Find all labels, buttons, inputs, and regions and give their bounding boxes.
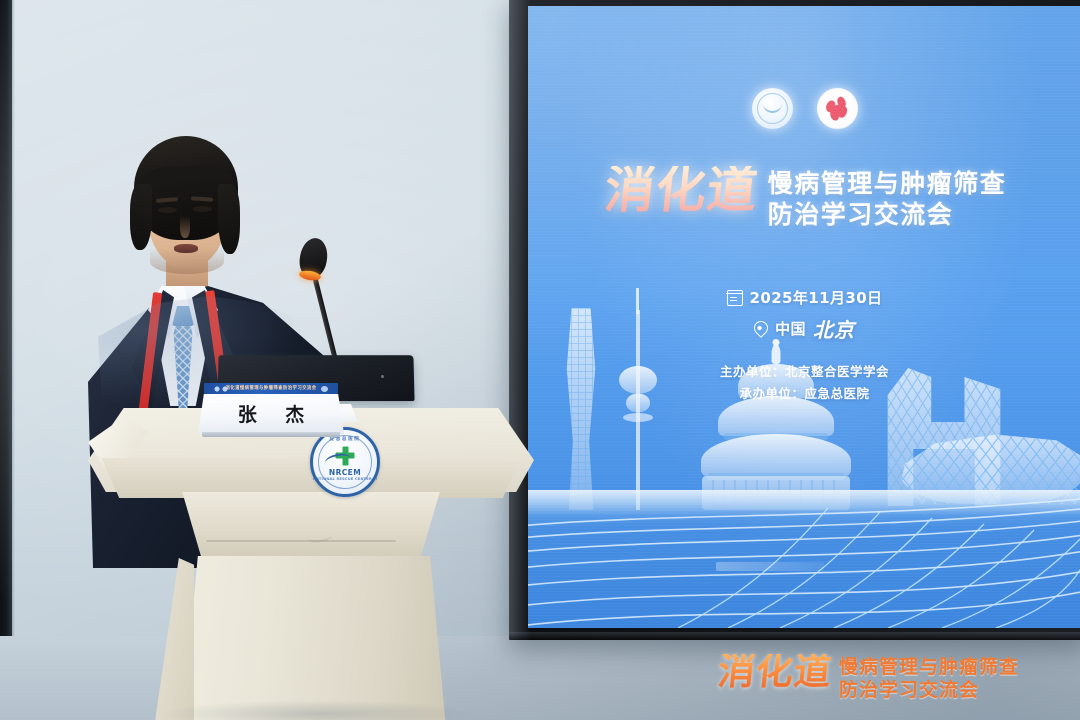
presentation-display: 消化道 慢病管理与肿瘤筛查 防治学习交流会 2025年11月30日 中国 北京 (509, 0, 1080, 640)
slide-ground-curves (528, 490, 1080, 628)
ground-curve-lines (528, 490, 1080, 628)
red-mark-glyph (824, 95, 851, 122)
nameplate-header-strip: 消化道慢病管理与肿瘤筛查防治学习交流会 (204, 383, 338, 394)
banner-line2: 防治学习交流会 (839, 679, 1019, 702)
wall-banner: 消化道 慢病管理与肿瘤筛查 防治学习交流会 (718, 654, 1070, 702)
ground-accent-bar (716, 562, 824, 571)
slide-title-line1: 慢病管理与肿瘤筛查 (768, 169, 1007, 200)
display-bottom-edge (509, 632, 1080, 640)
beijing-skyline-illustration (528, 290, 1080, 510)
podium-column (182, 556, 446, 720)
slide-title-line2: 防治学习交流会 (768, 200, 1007, 231)
podium-mid-section (150, 492, 472, 558)
speaker-eye-right (193, 206, 212, 212)
nameplate-strip-logos (214, 386, 230, 392)
speaker-eye-left (158, 207, 177, 213)
banner-title-main: 消化道 (716, 654, 834, 690)
emblem-acronym: NRCEM (313, 468, 377, 477)
speaker-mouth (174, 244, 198, 253)
laptop-logo-dot (381, 375, 384, 378)
slide-logo-row (528, 88, 1080, 129)
banner-line1: 慢病管理与肿瘤筛查 (839, 656, 1019, 679)
temple-of-heaven-icon (696, 338, 856, 510)
red-mark-logo-right-icon (817, 88, 858, 129)
emblem-logo-left-icon (752, 88, 793, 129)
nameplate-name-text: 张 杰 (198, 400, 344, 427)
slide-title-main: 消化道 (600, 166, 762, 214)
photo-scene: 消化道 慢病管理与肿瘤筛查 防治学习交流会 2025年11月30日 中国 北京 (0, 0, 1080, 720)
speaker-podium: 应急总医院 NRCEM NATIONAL RESCUE CENTER FOR E… (88, 408, 534, 720)
nameplate-base (202, 432, 340, 437)
speaker-nameplate: 消化道慢病管理与肿瘤筛查防治学习交流会 张 杰 (198, 383, 344, 437)
slide-title-block: 消化道 慢病管理与肿瘤筛查 防治学习交流会 (528, 166, 1080, 230)
emblem-arc-bottom-text: NATIONAL RESCUE CENTER FOR EMERGENCY MED… (313, 477, 377, 481)
slide-screen: 消化道 慢病管理与肿瘤筛查 防治学习交流会 2025年11月30日 中国 北京 (528, 6, 1080, 628)
hospital-emblem-icon: 应急总医院 NRCEM NATIONAL RESCUE CENTER FOR E… (310, 427, 380, 497)
speaker-nose (180, 216, 190, 238)
